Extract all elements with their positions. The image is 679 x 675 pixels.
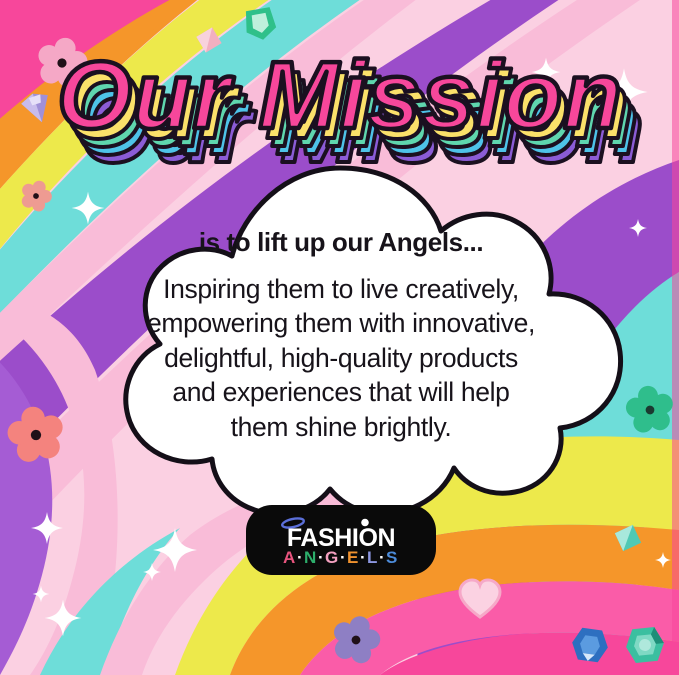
sparkle-star (629, 219, 647, 237)
sparkle-star (31, 512, 63, 544)
gem-pink-top (193, 24, 225, 56)
sparkle-star (33, 586, 50, 603)
logo-angels-dot: · (297, 548, 303, 567)
flower-coral-left (4, 402, 68, 465)
mission-body-line: them shine brightly. (231, 412, 452, 442)
logo-angels-e: E (347, 548, 359, 567)
logo-angels-dot: · (379, 548, 385, 567)
logo-angels-g: G (325, 548, 339, 567)
poster-canvas: Our Mission is to lift up our Angels... … (0, 0, 679, 675)
sparkle-star (153, 528, 197, 572)
fashion-angels-logo: FASHION A · N · G · E · L · S (246, 505, 436, 575)
gem-teal-right (610, 520, 646, 556)
logo-angels-n: N (304, 548, 317, 567)
flower-green-right (623, 383, 676, 435)
flower-coral-small-left (17, 176, 56, 215)
logo-angels-dot: · (340, 548, 346, 567)
logo-angels-a: A (283, 548, 296, 567)
logo-wordmark: FASHION A · N · G · E · L · S (257, 512, 425, 568)
logo-angels-dot: · (318, 548, 324, 567)
mission-heading: is to lift up our Angels... (96, 228, 586, 258)
logo-angels-dot: · (360, 548, 366, 567)
sparkle-star (600, 68, 647, 115)
sparkle-star (655, 552, 671, 568)
logo-angels-s: S (386, 548, 398, 567)
gem-teal-bottomright (624, 626, 665, 664)
logo-angels: A · N · G · E · L · S (283, 548, 398, 567)
gem-green-top (243, 7, 278, 43)
sparkle-star (586, 119, 604, 137)
sparkle-star (45, 600, 82, 637)
flower-purple-bottom (328, 611, 385, 667)
mission-text-block: is to lift up our Angels... Inspiring th… (96, 228, 586, 444)
sparkle-star (72, 192, 105, 225)
gem-blue-bottomright (570, 627, 610, 664)
mission-body-line: and experiences that will help (172, 377, 509, 407)
gem-purple-topleft (19, 89, 55, 126)
logo-angels-l: L (367, 548, 378, 567)
mission-body-line: delightful, high-quality products (164, 343, 518, 373)
mission-body: Inspiring them to live creatively, empow… (96, 272, 586, 444)
heart-pink-bottom (460, 580, 500, 617)
sparkle-star (532, 58, 561, 87)
mission-body-line: empowering them with innovative, (147, 308, 535, 338)
mission-body-line: Inspiring them to live creatively, (163, 274, 519, 304)
flower-pink-topleft (33, 33, 92, 90)
sparkle-star (143, 563, 161, 581)
